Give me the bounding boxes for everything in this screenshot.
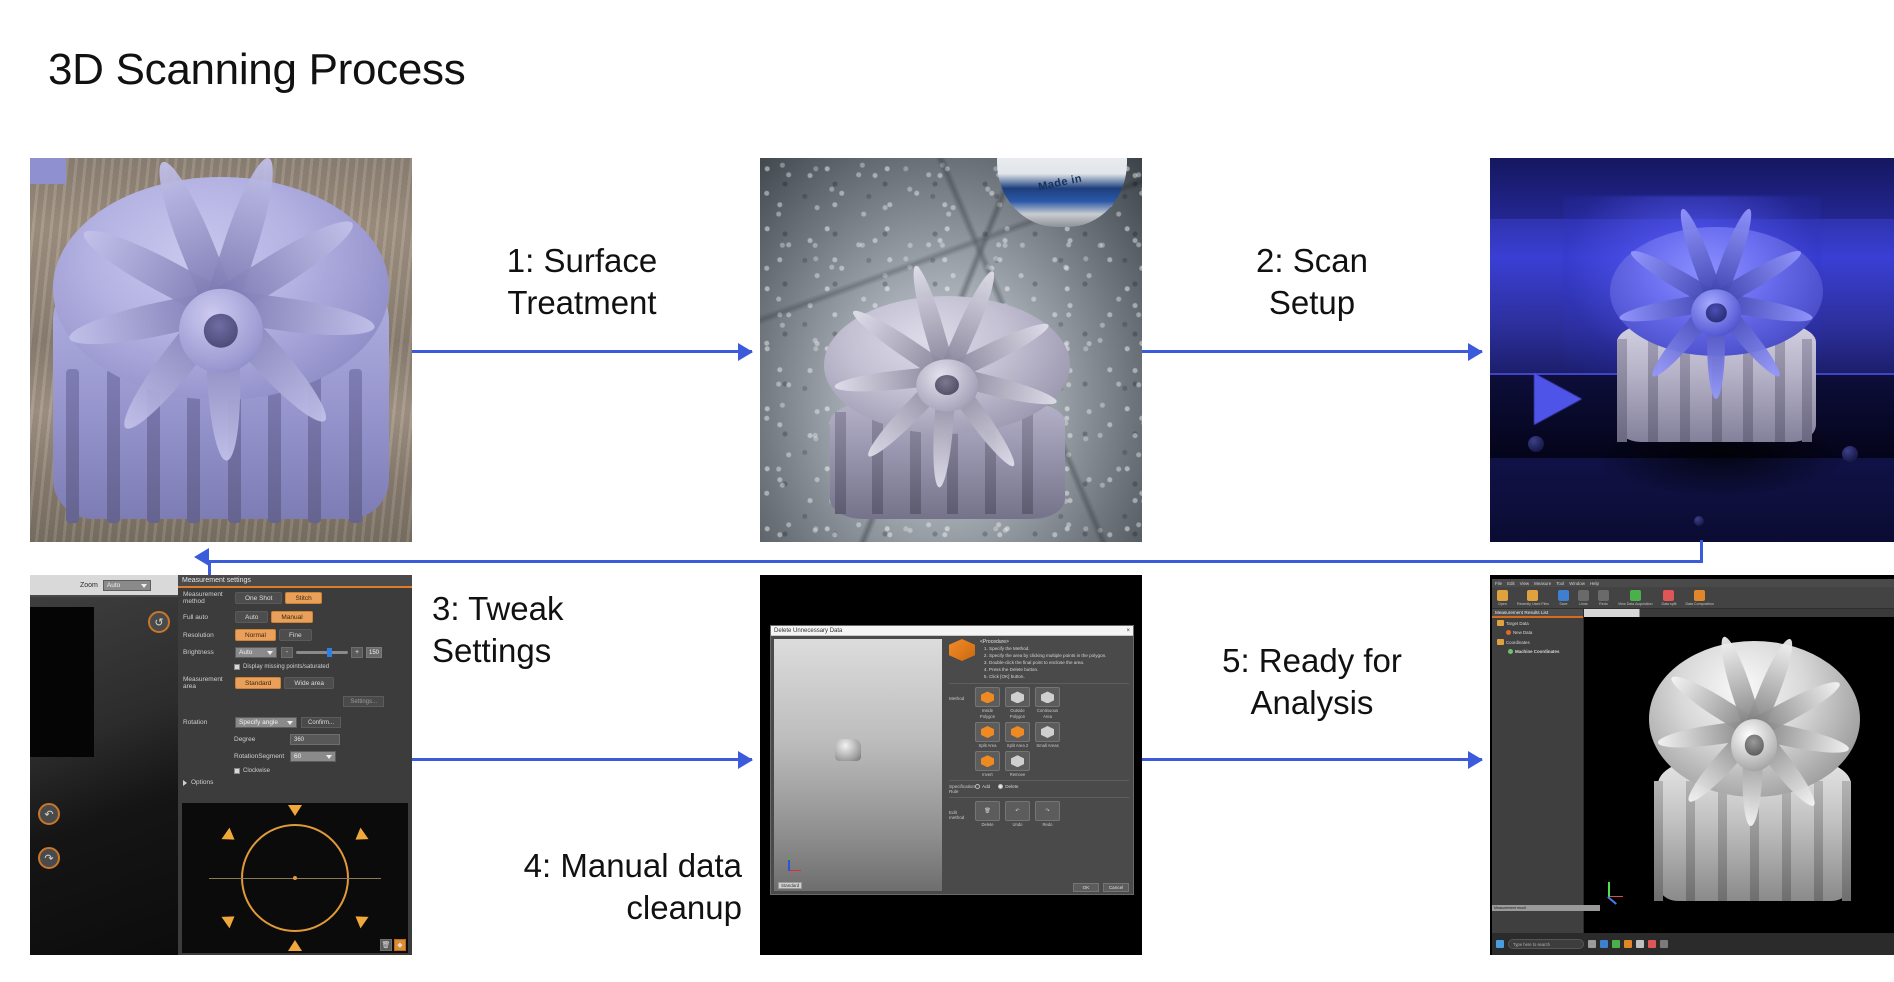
- step-4-label: 4: Manual data cleanup: [432, 845, 742, 929]
- data-dot-icon: [1506, 630, 1511, 635]
- procedure-step: Specify the Method.: [989, 646, 1106, 653]
- menu-item[interactable]: Tool: [1556, 581, 1564, 586]
- data-composition-icon: [1694, 590, 1705, 601]
- viewport-topbar: Zoom Auto: [30, 575, 178, 597]
- method-row-2: Split Area Split Area 2 Small Areas: [975, 722, 1060, 748]
- btn-invert[interactable]: Invert: [975, 751, 1000, 777]
- undo-icon: ↶: [1005, 801, 1030, 821]
- btn-caption: Continuous Area: [1035, 708, 1060, 719]
- photo-impeller-raw: [30, 158, 412, 542]
- radio-delete[interactable]: Delete: [998, 784, 1018, 789]
- row-display-missing: Display missing points/saturated: [178, 661, 412, 673]
- clockwise-box[interactable]: [234, 768, 240, 774]
- row-measurement-method: Measurement method One Shot Stitch: [178, 588, 412, 608]
- turntable-marker-tr[interactable]: [352, 828, 369, 846]
- btn-auto[interactable]: Auto: [235, 611, 268, 623]
- small-areas-icon: [1035, 722, 1060, 742]
- toolbar-recent[interactable]: Recently Used Files: [1517, 590, 1549, 606]
- measurement-method-segment[interactable]: One Shot Stitch: [235, 592, 322, 604]
- continuous-area-icon: [1035, 687, 1060, 707]
- tool-caption: Open: [1497, 602, 1508, 606]
- rotate-cw-icon[interactable]: ↷: [38, 847, 60, 869]
- brightness-mode-select[interactable]: Auto: [235, 647, 277, 658]
- menu-item[interactable]: Edit: [1507, 581, 1515, 586]
- data-split-icon: [1663, 590, 1674, 601]
- rotation-label: Rotation: [183, 719, 231, 726]
- rotate-ccw-icon[interactable]: ↶: [38, 803, 60, 825]
- procedure-step: Specify the area by clicking multiple po…: [989, 653, 1106, 660]
- save-icon: [1558, 590, 1569, 601]
- taskbar-icon[interactable]: [1624, 940, 1632, 948]
- page-title: 3D Scanning Process: [48, 45, 465, 95]
- degree-label: Degree: [234, 736, 286, 743]
- search-input[interactable]: Type here to search: [1508, 939, 1584, 949]
- area-settings-button[interactable]: Settings...: [343, 696, 384, 707]
- tool-caption: Save: [1558, 602, 1569, 606]
- edit-method-block: Edit method 🗑 Delete ↶ Undo ↷: [949, 801, 1129, 827]
- brightness-slider[interactable]: - + 150: [281, 647, 382, 658]
- procedure-step: Press the Delete button.: [989, 667, 1106, 674]
- trash-icon: 🗑: [975, 801, 1000, 821]
- photo-scan-stage: [1490, 158, 1894, 542]
- row-clockwise: Clockwise: [178, 765, 412, 777]
- sw-measurement-results[interactable]: File Edit View Measure Tool Window Help …: [1490, 575, 1894, 955]
- close-icon[interactable]: ×: [1126, 628, 1130, 634]
- menu-item[interactable]: View: [1520, 581, 1529, 586]
- view-data-acquisition-icon: [1630, 590, 1641, 601]
- rotation-segment-label: RotationSegment: [234, 753, 286, 760]
- divider: [949, 780, 1129, 781]
- toolbar-split[interactable]: Data split: [1661, 590, 1676, 606]
- stage-knob-center: [1694, 516, 1704, 526]
- tool-caption: Recently Used Files: [1517, 602, 1549, 606]
- btn-wide-area[interactable]: Wide area: [284, 677, 334, 689]
- procedure-heading: <Procedure>: [980, 639, 1106, 645]
- btn-caption: Delete: [975, 822, 1000, 827]
- results-app-window: File Edit View Measure Tool Window Help …: [1492, 579, 1894, 933]
- tree-node-new-data[interactable]: New Data: [1492, 628, 1583, 637]
- split-area-2-icon: [1005, 722, 1030, 742]
- brightness-minus-button[interactable]: -: [281, 647, 293, 658]
- canvas-tab[interactable]: [1584, 609, 1640, 617]
- btn-standard-area[interactable]: Standard: [235, 677, 281, 689]
- turntable-marker-bl[interactable]: [221, 911, 238, 929]
- stage-knob-right: [1842, 446, 1858, 462]
- edit-method-label: Edit method: [949, 801, 971, 820]
- impeller-bore: [204, 314, 238, 349]
- btn-caption: Inside Polygon: [975, 708, 1000, 719]
- specification-label: Specification Rule: [949, 784, 971, 794]
- full-auto-label: Full auto: [183, 614, 231, 621]
- display-missing-label: Display missing points/saturated: [243, 664, 329, 670]
- tree-node-label: New Data: [1513, 630, 1532, 635]
- dialog-right-panel: <Procedure> Specify the Method. Specify …: [945, 636, 1133, 894]
- inside-polygon-icon: [975, 687, 1000, 707]
- btn-redo[interactable]: ↷ Redo: [1035, 801, 1060, 827]
- step-1-label: 1: Surface Treatment: [452, 240, 712, 324]
- rotation-confirm-button[interactable]: Confirm...: [301, 717, 341, 728]
- tool-caption: Data split: [1661, 602, 1676, 606]
- btn-manual[interactable]: Manual: [271, 611, 312, 623]
- rotate-view-icon[interactable]: ↺: [148, 611, 170, 633]
- menu-item[interactable]: Help: [1590, 581, 1599, 586]
- outside-polygon-icon: [1005, 687, 1030, 707]
- dialog-titlebar: Delete Unnecessary Data ×: [771, 626, 1133, 636]
- polygon-cube-icon: [949, 639, 975, 661]
- btn-inside-polygon[interactable]: Inside Polygon: [975, 687, 1000, 719]
- step-5-label: 5: Ready for Analysis: [1172, 640, 1452, 724]
- turntable-marker-top[interactable]: [288, 805, 302, 816]
- row-resolution: Resolution Normal Fine: [178, 626, 412, 644]
- toolbar-composition[interactable]: Data Composition: [1685, 590, 1714, 606]
- split-area-icon: [975, 722, 1000, 742]
- method-label: Method: [949, 687, 971, 701]
- clockwise-label: Clockwise: [243, 768, 270, 774]
- add-icon[interactable]: ◆: [394, 939, 406, 951]
- divider: [949, 683, 1129, 684]
- zoom-label: Zoom: [80, 582, 98, 589]
- specification-radios[interactable]: Add Delete: [975, 784, 1018, 789]
- method-block: Method Inside Polygon Outside Polygon: [949, 687, 1129, 777]
- remove-icon: [1005, 751, 1030, 771]
- invert-icon: [975, 751, 1000, 771]
- btn-caption: Split Area: [975, 743, 1000, 748]
- tree-node-target-data[interactable]: Target Data: [1492, 618, 1583, 628]
- coordinate-icon: [1508, 649, 1513, 654]
- menubar[interactable]: File Edit View Measure Tool Window Help: [1492, 579, 1894, 587]
- taskbar-icon[interactable]: [1636, 940, 1644, 948]
- procedure-step: Double-click the final point to enclose …: [989, 660, 1106, 667]
- tool-caption: Redo: [1598, 602, 1609, 606]
- radio-dot[interactable]: [998, 784, 1003, 789]
- brightness-track[interactable]: [296, 651, 348, 654]
- canvas-caption: Measurement result: [1492, 905, 1600, 911]
- taskbar-icon[interactable]: [1612, 940, 1620, 948]
- toolbar-undo[interactable]: Undo: [1578, 590, 1589, 606]
- dialog-3d-viewport[interactable]: Standard: [774, 639, 942, 891]
- slide-root: 3D Scanning Process 1: Surface Treatment: [0, 0, 1894, 982]
- live-camera-viewport[interactable]: ↺ ↶ ↷: [30, 597, 178, 955]
- pane-title: Measurement settings: [178, 575, 412, 588]
- undo-icon: [1578, 590, 1589, 601]
- tool-caption: View Data Acquisition: [1618, 602, 1653, 606]
- brightness-value: 150: [366, 647, 382, 658]
- dialog-title: Delete Unnecessary Data: [774, 628, 842, 634]
- canvas-axis-gizmo: [1598, 881, 1624, 907]
- method-row-1: Inside Polygon Outside Polygon Continuou…: [975, 687, 1060, 719]
- edit-buttons: 🗑 Delete ↶ Undo ↷ Redo: [975, 801, 1060, 827]
- radio-dot[interactable]: [975, 784, 980, 789]
- procedure-block: <Procedure> Specify the Method. Specify …: [949, 639, 1129, 680]
- axis-y: [1608, 882, 1610, 897]
- tree-node-coordinates[interactable]: Coordinates: [1492, 637, 1583, 647]
- procedure-step: Click [OK] button.: [989, 674, 1106, 681]
- redo-icon: [1598, 590, 1609, 601]
- arrow-step-4: [412, 758, 752, 761]
- specification-block: Specification Rule Add Delete: [949, 784, 1129, 794]
- row-area-settings: Settings...: [178, 693, 412, 710]
- btn-split-area-2[interactable]: Split Area 2: [1005, 722, 1030, 748]
- tool-caption: Data Composition: [1685, 602, 1714, 606]
- rotation-mode-select[interactable]: Specify angle: [235, 717, 297, 728]
- turntable-preview[interactable]: 🗑 ◆: [182, 803, 408, 953]
- brightness-label: Brightness: [183, 649, 231, 656]
- turntable-marker-br[interactable]: [352, 911, 369, 929]
- results-3d-canvas[interactable]: [1584, 609, 1894, 933]
- cancel-button[interactable]: Cancel: [1103, 883, 1129, 892]
- brightness-knob[interactable]: [327, 648, 332, 657]
- ok-button[interactable]: OK: [1073, 883, 1099, 892]
- btn-split-area[interactable]: Split Area: [975, 722, 1000, 748]
- step-3-label: 3: Tweak Settings: [432, 588, 732, 672]
- procedure-list: Specify the Method. Specify the area by …: [980, 646, 1106, 680]
- results-tree[interactable]: Measurement Results List Target Data New…: [1492, 609, 1584, 933]
- menu-item[interactable]: Measure: [1534, 581, 1551, 586]
- turntable-marker-tl[interactable]: [221, 828, 238, 846]
- step-2-label: 2: Scan Setup: [1182, 240, 1442, 324]
- btn-stitch[interactable]: Stitch: [285, 592, 321, 604]
- axis-gizmo: [782, 857, 802, 877]
- btn-remove[interactable]: Remove: [1005, 751, 1030, 777]
- redo-icon: ↷: [1035, 801, 1060, 821]
- btn-caption: Outside Polygon: [1005, 708, 1030, 719]
- btn-outside-polygon[interactable]: Outside Polygon: [1005, 687, 1030, 719]
- btn-continuous-area[interactable]: Continuous Area: [1035, 687, 1060, 719]
- btn-caption: Split Area 2: [1005, 743, 1030, 748]
- arrow-step-5: [1142, 758, 1482, 761]
- btn-small-areas[interactable]: Small Areas: [1035, 722, 1060, 748]
- rotation-segment-select[interactable]: 60: [290, 751, 336, 762]
- options-expander[interactable]: Options: [178, 777, 412, 788]
- stage-knob-left: [1528, 436, 1544, 452]
- dialog-footer: OK Cancel: [1073, 883, 1129, 892]
- turntable-center: [293, 876, 297, 880]
- btn-undo[interactable]: ↶ Undo: [1005, 801, 1030, 827]
- radio-label: Delete: [1005, 784, 1018, 789]
- resolution-label: Resolution: [183, 632, 231, 639]
- sw-measurement-settings[interactable]: Zoom Auto ↺ ↶ ↷ Measurement settings Mea…: [30, 575, 412, 955]
- folder-icon: [1497, 620, 1504, 626]
- delete-data-dialog[interactable]: Delete Unnecessary Data × Standard: [770, 625, 1134, 895]
- degree-input[interactable]: 360: [290, 734, 340, 745]
- tool-caption: Undo: [1578, 602, 1589, 606]
- tree-node-label: Coordinates: [1506, 640, 1530, 645]
- measurement-area-label: Measurement area: [183, 676, 231, 690]
- toolbar-save[interactable]: Save: [1558, 590, 1569, 606]
- display-missing-checkbox[interactable]: Display missing points/saturated: [234, 664, 329, 670]
- taskbar[interactable]: Type here to search: [1492, 933, 1894, 955]
- viewport-tag: Standard: [778, 882, 802, 889]
- tree-node-label: Target Data: [1506, 621, 1529, 626]
- btn-caption: Small Areas: [1035, 743, 1060, 748]
- axis-x: [788, 870, 801, 872]
- arrow-step-2: [1142, 350, 1482, 353]
- wrap-connector: [190, 540, 1704, 580]
- checkbox-box[interactable]: [234, 664, 240, 670]
- radio-add[interactable]: Add: [975, 784, 990, 789]
- row-rotation: Rotation Specify angle Confirm...: [178, 710, 412, 731]
- taskbar-icon[interactable]: [1648, 940, 1656, 948]
- chevron-right-icon: [183, 780, 187, 786]
- axis-z: [788, 860, 790, 871]
- row-degree: Degree 360: [178, 731, 412, 748]
- options-label: Options: [191, 779, 213, 786]
- row-full-auto: Full auto Auto Manual: [178, 608, 412, 626]
- brightness-plus-button[interactable]: +: [351, 647, 363, 658]
- turntable-marker-bottom[interactable]: [288, 940, 302, 951]
- resolution-segment[interactable]: Normal Fine: [235, 629, 312, 641]
- taskbar-icon[interactable]: [1660, 940, 1668, 948]
- btn-caption: Remove: [1005, 772, 1030, 777]
- btn-fine[interactable]: Fine: [279, 629, 312, 641]
- open-icon: [1497, 590, 1508, 601]
- canvas-tabstrip[interactable]: [1584, 609, 1894, 617]
- measurement-method-label: Measurement method: [183, 591, 231, 605]
- scanned-model: [1640, 641, 1869, 900]
- recent-files-icon: [1527, 590, 1538, 601]
- scanned-mesh: [835, 739, 861, 761]
- toolbar-acquisition[interactable]: View Data Acquisition: [1618, 590, 1653, 606]
- divider: [949, 797, 1129, 798]
- turntable-tools[interactable]: 🗑 ◆: [380, 939, 406, 951]
- btn-one-shot[interactable]: One Shot: [235, 592, 282, 604]
- viewport-dark-region: [30, 607, 94, 757]
- can-label-text: Made in: [1038, 173, 1084, 194]
- taskbar-icon[interactable]: [1600, 940, 1608, 948]
- row-brightness: Brightness Auto - + 150: [178, 644, 412, 661]
- method-row-3: Invert Remove: [975, 751, 1060, 777]
- tree-node-machine-coordinates[interactable]: Machine Coordinates: [1492, 647, 1583, 656]
- taskbar-icon[interactable]: [1588, 940, 1596, 948]
- start-icon[interactable]: [1496, 940, 1504, 948]
- folder-icon: [1497, 639, 1504, 645]
- measurement-area-segment[interactable]: Standard Wide area: [235, 677, 334, 689]
- tree-node-label: Machine Coordinates: [1515, 649, 1559, 654]
- trash-icon[interactable]: 🗑: [380, 939, 392, 951]
- btn-normal[interactable]: Normal: [235, 629, 276, 641]
- arrow-step-1: [412, 350, 752, 353]
- toolbar-open[interactable]: Open: [1497, 590, 1508, 606]
- results-content: Measurement Results List Target Data New…: [1492, 609, 1894, 933]
- zoom-control[interactable]: Zoom Auto: [80, 580, 151, 591]
- btn-caption: Undo: [1005, 822, 1030, 827]
- corner-artifact: [30, 158, 66, 184]
- photo-impeller-coated: Made in: [760, 158, 1142, 542]
- toolbar[interactable]: Open Recently Used Files Save Undo Redo: [1492, 587, 1894, 609]
- menu-item[interactable]: Window: [1569, 581, 1585, 586]
- row-rotation-segment: RotationSegment 60: [178, 748, 412, 765]
- radio-label: Add: [982, 784, 990, 789]
- clockwise-checkbox[interactable]: Clockwise: [234, 768, 270, 774]
- btn-caption: Invert: [975, 772, 1000, 777]
- scanned-part: [1603, 227, 1829, 442]
- menu-item[interactable]: File: [1495, 581, 1502, 586]
- btn-delete[interactable]: 🗑 Delete: [975, 801, 1000, 827]
- row-measurement-area: Measurement area Standard Wide area: [178, 673, 412, 693]
- sw-delete-unnecessary-data[interactable]: Delete Unnecessary Data × Standard: [760, 575, 1142, 955]
- zoom-select[interactable]: Auto: [103, 580, 151, 591]
- full-auto-segment[interactable]: Auto Manual: [235, 611, 313, 623]
- calibration-marker: [1534, 373, 1582, 425]
- coated-part: [813, 296, 1080, 519]
- btn-caption: Redo: [1035, 822, 1060, 827]
- tree-title: Measurement Results List: [1492, 609, 1583, 618]
- dialog-body: Standard <Procedure> Specify the Method.…: [771, 636, 1133, 894]
- toolbar-redo[interactable]: Redo: [1598, 590, 1609, 606]
